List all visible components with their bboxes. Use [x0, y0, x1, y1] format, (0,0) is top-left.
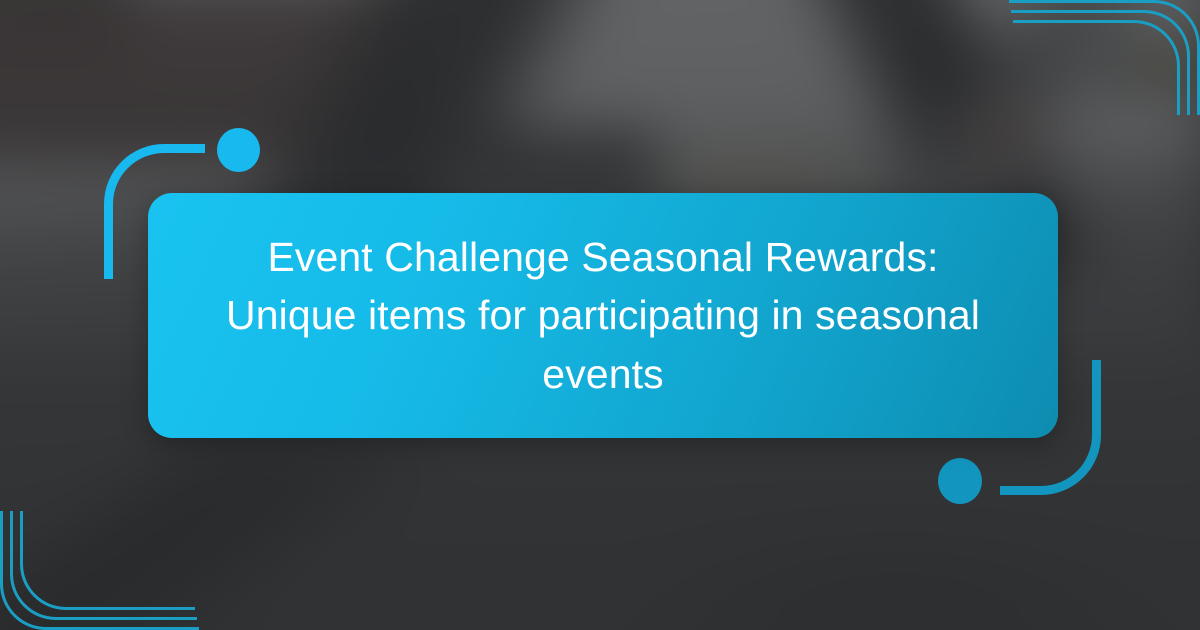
accent-dot-bottom-right	[938, 458, 982, 504]
banner-stage: Event Challenge Seasonal Rewards: Unique…	[0, 0, 1200, 630]
corner-line-inner	[1013, 20, 1180, 115]
headline-card: Event Challenge Seasonal Rewards: Unique…	[148, 193, 1058, 438]
page-title: Event Challenge Seasonal Rewards: Unique…	[148, 228, 1058, 403]
accent-dot-top-left	[217, 128, 260, 172]
corner-line-inner	[20, 511, 195, 610]
